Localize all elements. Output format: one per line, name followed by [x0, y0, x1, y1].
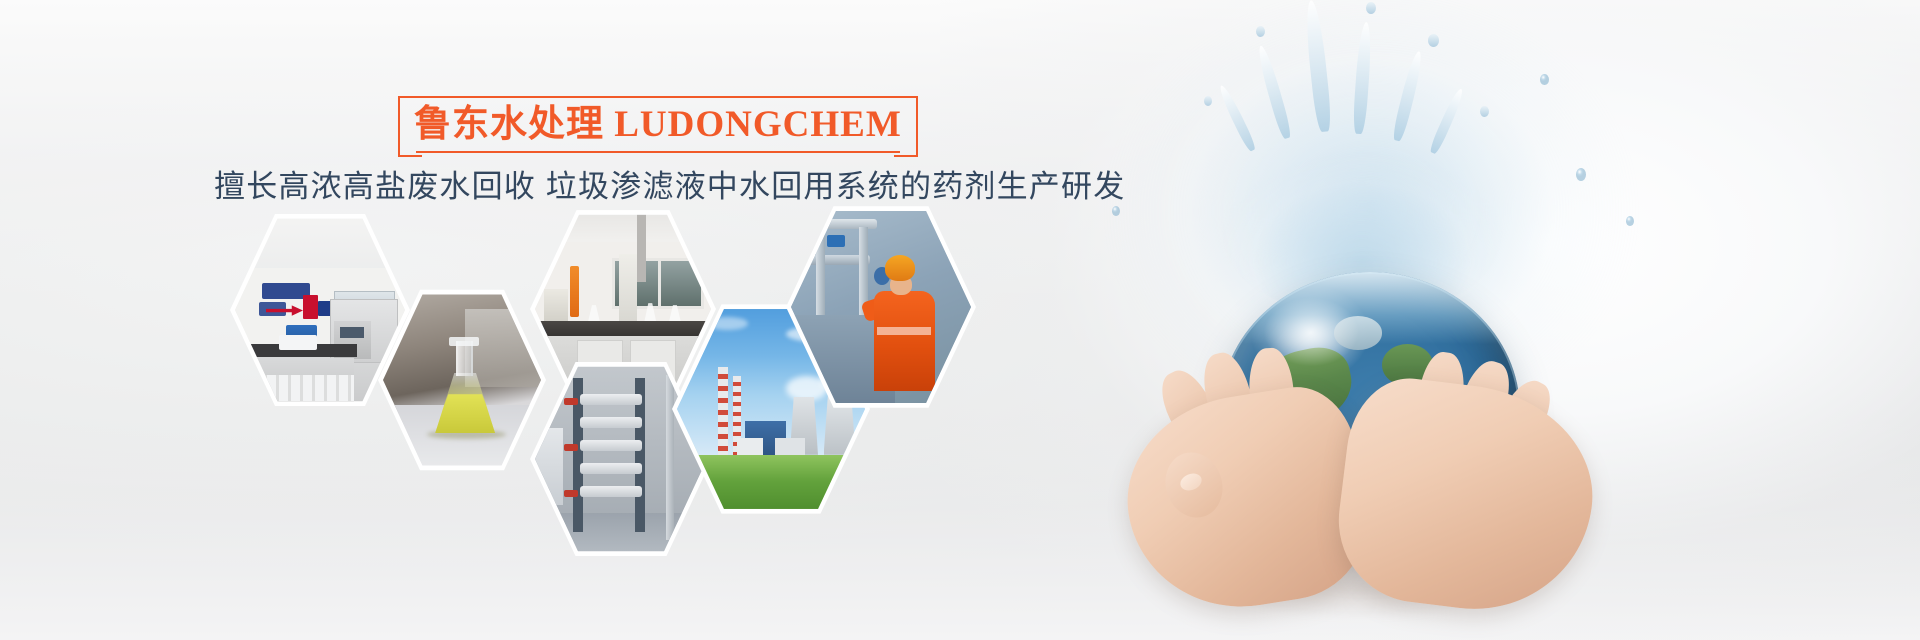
hexagon-photo-cluster: [230, 210, 970, 540]
droplet-6: [1480, 106, 1489, 117]
hero-banner: 鲁东水处理 LUDONGCHEM 擅长高浓高盐废水回收 垃圾渗滤液中水回用系统的…: [0, 0, 1920, 640]
splash-jet-1: [1303, 0, 1333, 132]
title-rule-top: [416, 96, 900, 98]
title-rule-bottom: [416, 151, 900, 153]
lab3-ceiling: [535, 211, 711, 244]
brand-title: 鲁东水处理 LUDONGCHEM: [414, 103, 902, 147]
brand-title-frame: 鲁东水处理 LUDONGCHEM: [398, 96, 918, 153]
membrane-tube-5: [580, 486, 642, 498]
red-valve-2: [564, 444, 578, 452]
right-hand: [1329, 372, 1604, 623]
droplet-11: [1112, 206, 1120, 216]
lab-white-unit: [279, 335, 316, 350]
green-field: [677, 455, 865, 513]
membrane-tube-4: [580, 463, 642, 475]
flask-liquid: [435, 394, 495, 433]
water-globe-scene: [1020, 0, 1920, 640]
droplet-9: [1626, 216, 1634, 226]
lab3-orange-banner: [570, 266, 579, 317]
safety-helmet-icon: [885, 255, 916, 281]
banner-subtitle: 擅长高浓高盐废水回收 垃圾渗滤液中水回用系统的药剂生产研发: [214, 167, 1004, 207]
splash-jet-5: [1217, 83, 1258, 152]
lab3-fume-hood: [619, 254, 637, 321]
wall-number-one: [303, 295, 318, 320]
lab3-column: [637, 211, 646, 282]
worker-coverall: [874, 291, 935, 391]
splash-jet-3: [1255, 44, 1293, 140]
lab3-equipment: [544, 289, 569, 320]
membrane-tube-1: [580, 394, 642, 406]
splash-jet-2: [1352, 22, 1373, 135]
droplet-10: [1540, 74, 1549, 85]
lab-control-panel: [340, 327, 364, 338]
droplet-4: [1428, 34, 1439, 47]
vertical-pipe: [666, 375, 675, 540]
lab-ceiling: [235, 215, 405, 272]
flask-neck: [456, 341, 473, 377]
droplet-5: [1204, 96, 1212, 106]
membrane-tube-3: [580, 440, 642, 452]
red-valve-1: [564, 398, 578, 406]
water-splash: [1160, 10, 1540, 310]
lab3-window-mullion: [658, 258, 661, 309]
hex-photo: [383, 291, 541, 469]
reflective-strip: [877, 327, 931, 335]
blue-equipment: [827, 235, 845, 247]
droplet-8: [1576, 168, 1586, 181]
splash-jet-6: [1428, 87, 1466, 155]
droplet-3: [1256, 26, 1265, 37]
hex-photo: [235, 215, 405, 405]
red-valve-3: [564, 490, 578, 498]
membrane-tube-2: [580, 417, 642, 429]
flask-lip: [449, 337, 479, 346]
droplet-2: [1366, 2, 1376, 14]
chimney-a: [718, 367, 727, 454]
headline-block: 鲁东水处理 LUDONGCHEM 擅长高浓高盐废水回收 垃圾渗滤液中水回用系统的…: [214, 96, 1004, 207]
splash-jet-4: [1391, 50, 1425, 142]
